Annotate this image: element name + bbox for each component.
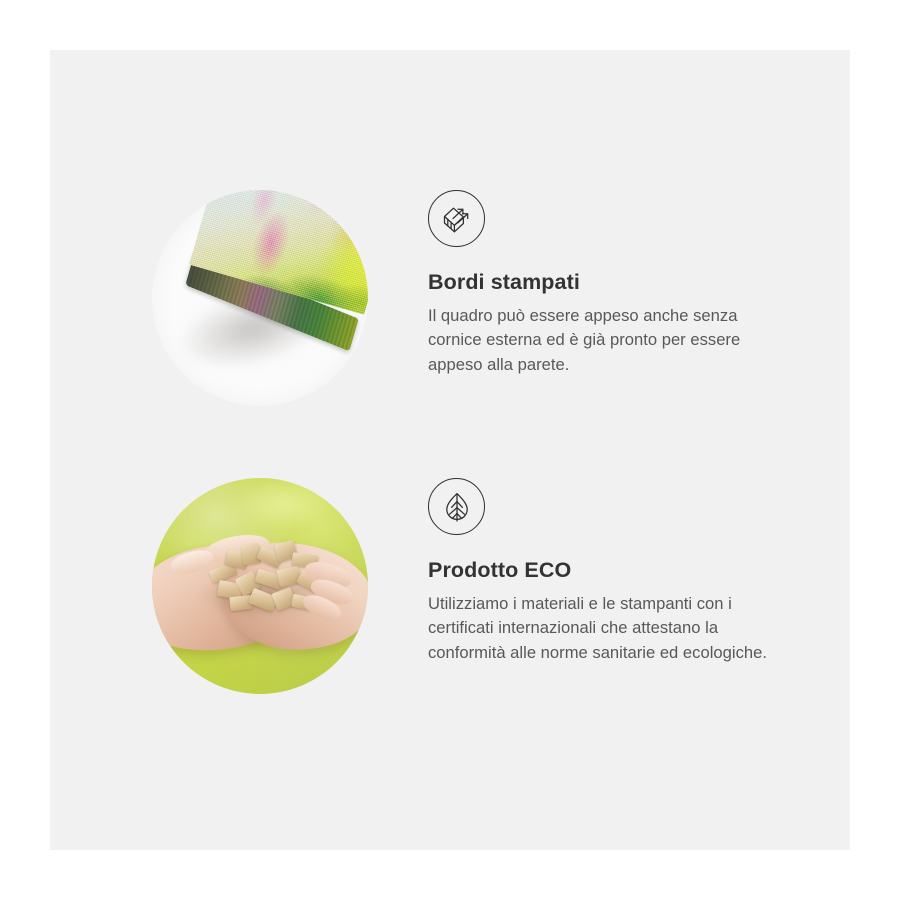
feature-description: Utilizziamo i materiali e le stampanti c… [428,592,794,666]
feature-description: Il quadro può essere appeso anche senza … [428,304,794,378]
feature-content-eco-product: Prodotto ECO Utilizziamo i materiali e l… [428,478,828,665]
product-feature-page: Bordi stampati Il quadro può essere appe… [0,0,900,900]
feature-title: Prodotto ECO [428,558,828,584]
leaf-icon [428,478,485,535]
content-panel: Bordi stampati Il quadro può essere appe… [50,50,850,850]
canvas-corner-photo [152,190,368,406]
canvas-wrapped-edge-icon [428,190,485,247]
feature-content-printed-edges: Bordi stampati Il quadro può essere appe… [428,190,828,377]
feature-title: Bordi stampati [428,270,828,296]
wood-chips-hands-photo [152,478,368,694]
